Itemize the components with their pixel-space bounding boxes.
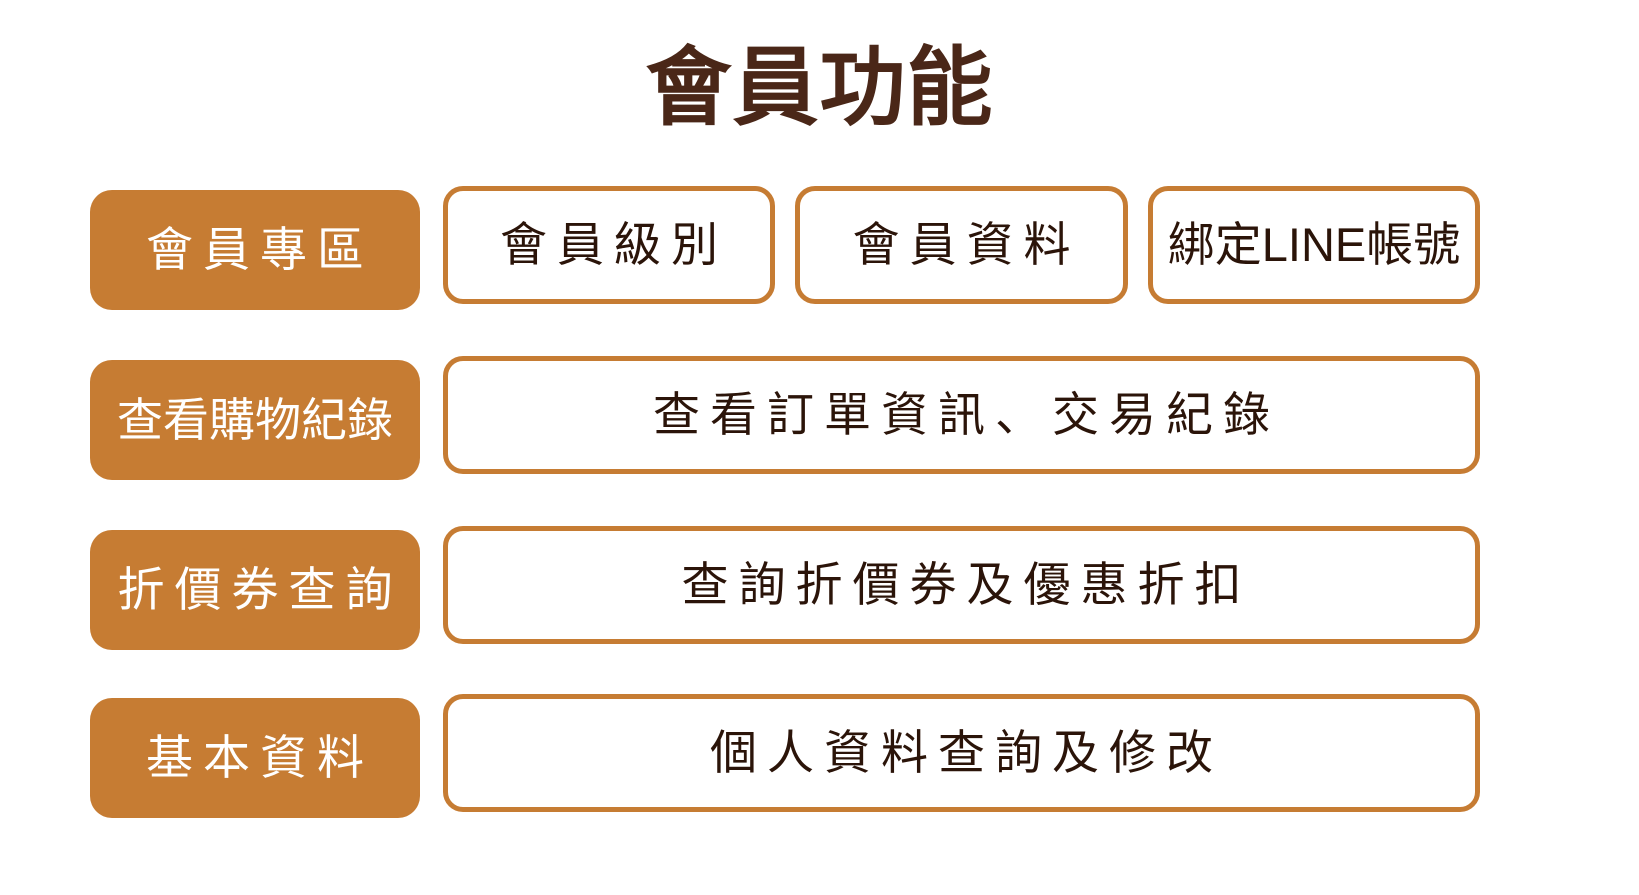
feature-row-coupon-query: 折價券查詢 查詢折價券及優惠折扣: [0, 526, 1639, 650]
category-chip-label: 查看購物紀錄: [117, 392, 393, 448]
feature-box-label: 會員級別: [490, 216, 728, 274]
feature-box-order-transaction-records[interactable]: 查看訂單資訊、交易紀錄: [443, 356, 1480, 474]
feature-row-basic-info: 基本資料 個人資料查詢及修改: [0, 694, 1639, 818]
feature-box-label: 會員資料: [843, 216, 1081, 274]
category-chip-label: 基本資料: [136, 730, 374, 786]
category-chip-label: 折價券查詢: [108, 562, 403, 618]
category-chip-coupon-query[interactable]: 折價券查詢: [90, 530, 420, 650]
feature-box-label: 個人資料查詢及修改: [700, 724, 1223, 782]
page-title: 會員功能: [0, 34, 1639, 142]
feature-box-member-profile[interactable]: 會員資料: [795, 186, 1128, 304]
feature-row-member-area: 會員專區 會員級別 會員資料 綁定LINE帳號: [0, 186, 1639, 310]
category-chip-purchase-history[interactable]: 查看購物紀錄: [90, 360, 420, 480]
feature-box-bind-line-account[interactable]: 綁定LINE帳號: [1148, 186, 1480, 304]
feature-box-label: 綁定LINE帳號: [1168, 216, 1461, 274]
feature-row-purchase-history: 查看購物紀錄 查看訂單資訊、交易紀錄: [0, 356, 1639, 480]
member-features-diagram: 會員功能 會員專區 會員級別 會員資料 綁定LINE帳號 查看購物紀錄 查看訂單…: [0, 0, 1639, 895]
feature-box-personal-info-edit[interactable]: 個人資料查詢及修改: [443, 694, 1480, 812]
category-chip-label: 會員專區: [136, 222, 374, 278]
feature-box-member-level[interactable]: 會員級別: [443, 186, 775, 304]
category-chip-member-area[interactable]: 會員專區: [90, 190, 420, 310]
feature-box-label: 查看訂單資訊、交易紀錄: [643, 386, 1280, 444]
feature-box-coupon-discount-query[interactable]: 查詢折價券及優惠折扣: [443, 526, 1480, 644]
category-chip-basic-info[interactable]: 基本資料: [90, 698, 420, 818]
feature-box-label: 查詢折價券及優惠折扣: [672, 556, 1252, 614]
